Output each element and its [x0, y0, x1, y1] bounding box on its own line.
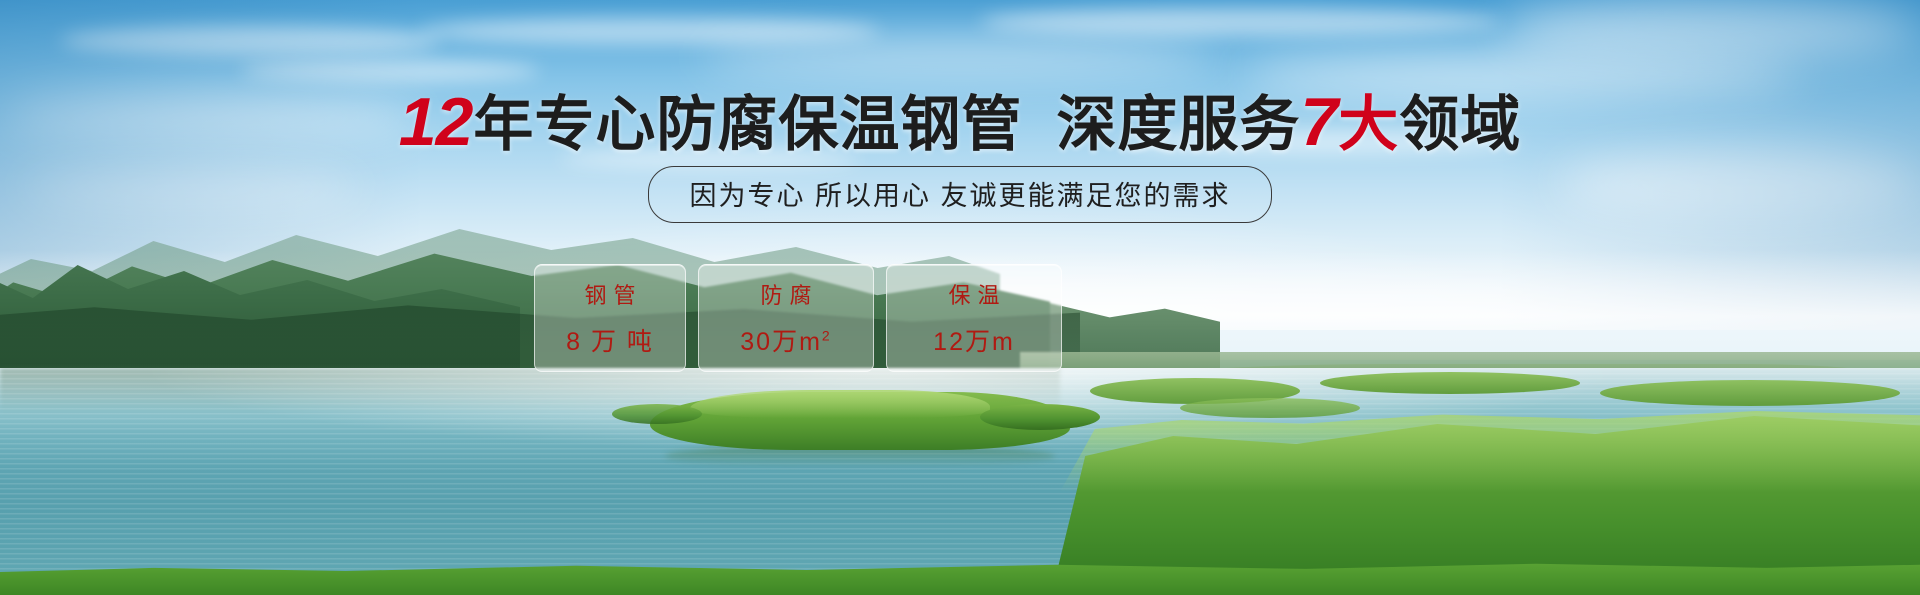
spec-card-anticorrosion[interactable]: 防腐 30万m2	[698, 264, 874, 372]
spec-card-steel-pipe[interactable]: 钢管 8 万 吨	[534, 264, 686, 372]
headline-fields-number: 7	[1300, 84, 1337, 160]
marsh-patch	[1180, 398, 1360, 418]
headline-text-part1: 年专心防腐保温钢管	[473, 91, 1022, 158]
marsh-patch	[1600, 380, 1900, 406]
spec-card-value: 8 万 吨	[566, 322, 654, 358]
spec-card-title: 防腐	[753, 278, 818, 310]
headline-text-part4: 领域	[1399, 91, 1521, 158]
marsh-patch	[1320, 372, 1580, 394]
spec-card-insulation[interactable]: 保温 12万m	[886, 264, 1062, 372]
spec-card-title: 钢管	[577, 278, 642, 310]
banner-headline: 12年专心防腐保温钢管深度服务7大领域	[0, 88, 1920, 156]
spec-card-group: 钢管 8 万 吨 防腐 30万m2 保温 12万m	[534, 264, 1062, 372]
spec-card-value-unit-exponent: 2	[822, 328, 832, 344]
spec-card-title: 保温	[941, 278, 1006, 310]
headline-text-part2: 深度服务	[1056, 91, 1300, 158]
headline-text-part3: 大	[1338, 91, 1399, 158]
spec-card-value: 12万m	[933, 322, 1015, 358]
spec-card-value-text: 30万m	[740, 328, 822, 356]
grass-islet	[980, 404, 1100, 430]
banner-subtitle-container: 因为专心 所以用心 友诚更能满足您的需求	[0, 166, 1920, 223]
grass-islet	[612, 404, 702, 424]
hero-banner: 12年专心防腐保温钢管深度服务7大领域 因为专心 所以用心 友诚更能满足您的需求…	[0, 0, 1920, 595]
banner-subtitle: 因为专心 所以用心 友诚更能满足您的需求	[648, 166, 1271, 223]
grass-island-highlight	[690, 390, 990, 418]
headline-years-number: 12	[399, 84, 473, 160]
spec-card-value: 30万m2	[740, 322, 831, 358]
